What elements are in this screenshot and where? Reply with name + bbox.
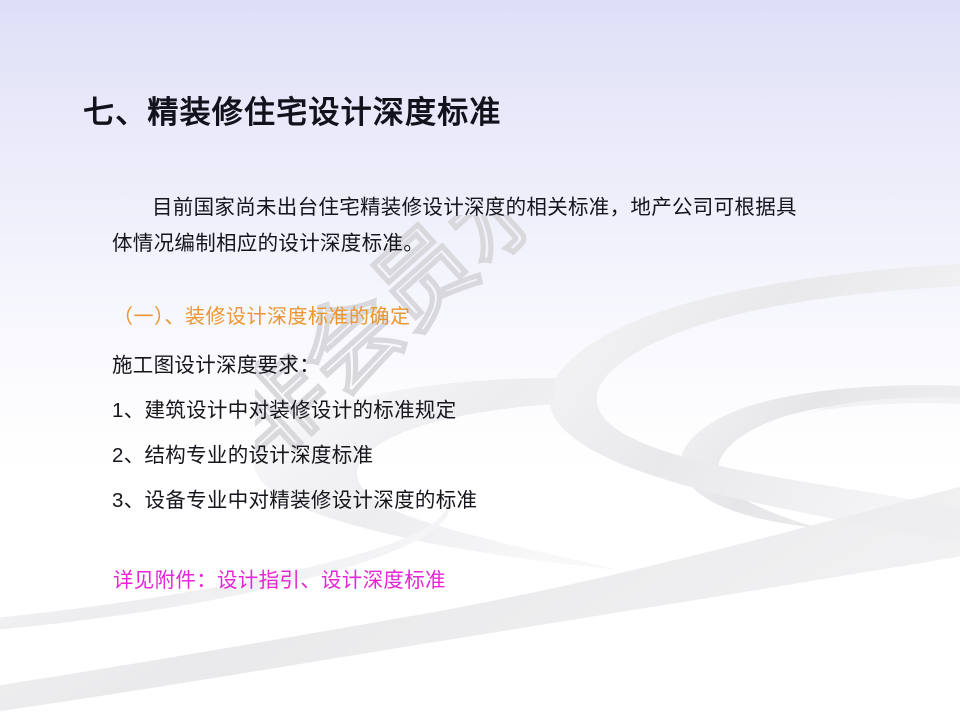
list-item: 2、结构专业的设计深度标准 bbox=[112, 438, 373, 468]
list-item: 3、设备专业中对精装修设计深度的标准 bbox=[112, 483, 477, 513]
presentation-slide: 非会员水印 七、精装修住宅设计深度标准 目前国家尚未出台住宅精装修设计深度的相关… bbox=[0, 0, 960, 720]
slide-content: 七、精装修住宅设计深度标准 目前国家尚未出台住宅精装修设计深度的相关标准，地产公… bbox=[0, 0, 960, 720]
page-title: 七、精装修住宅设计深度标准 bbox=[83, 87, 502, 132]
requirements-lead-line: 施工图设计深度要求： bbox=[112, 348, 320, 378]
intro-paragraph: 目前国家尚未出台住宅精装修设计深度的相关标准，地产公司可根据具体情况编制相应的设… bbox=[112, 190, 812, 262]
list-item: 1、建筑设计中对装修设计的标准规定 bbox=[112, 393, 457, 423]
attachment-note: 详见附件：设计指引、设计深度标准 bbox=[113, 563, 446, 593]
section-heading: （一）、装修设计深度标准的确定 bbox=[113, 300, 411, 329]
